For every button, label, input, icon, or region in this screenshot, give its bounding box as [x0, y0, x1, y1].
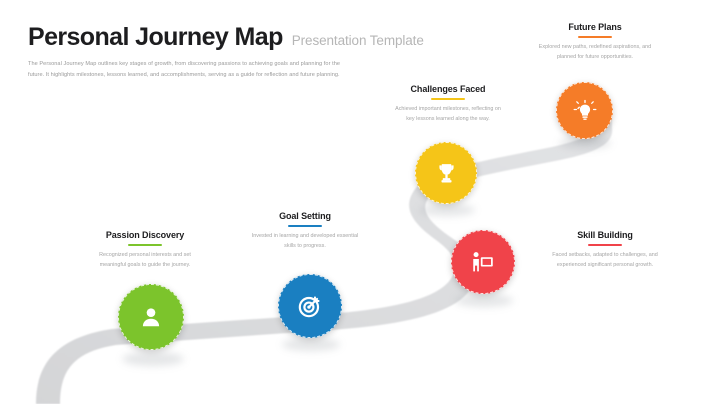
step-title: Goal Setting	[230, 211, 380, 221]
marker-goal-setting[interactable]	[278, 274, 342, 338]
step-description: Explored new paths, redefined aspiration…	[520, 42, 670, 62]
page-subtitle: Presentation Template	[292, 33, 424, 48]
intro-paragraph: The Personal Journey Map outlines key st…	[28, 59, 348, 81]
marker-challenges-faced[interactable]	[415, 142, 477, 204]
page-title: Personal Journey Map	[28, 24, 283, 50]
title-row: Personal Journey Map Presentation Templa…	[28, 24, 448, 50]
step-title: Skill Building	[530, 230, 680, 240]
step-description: Invested in learning and developed essen…	[230, 231, 380, 251]
journey-map-slide: Personal Journey Map Presentation Templa…	[0, 0, 720, 404]
slide-header: Personal Journey Map Presentation Templa…	[28, 24, 448, 81]
accent-bar	[588, 244, 622, 246]
accent-bar	[431, 98, 465, 100]
marker-passion-discovery[interactable]	[118, 284, 184, 350]
step-challenges-faced-text: Challenges Faced Achieved important mile…	[373, 84, 523, 124]
marker-shadow	[282, 338, 340, 351]
marker-shadow	[419, 204, 475, 216]
step-title: Challenges Faced	[373, 84, 523, 94]
step-description: Faced setbacks, adapted to challenges, a…	[530, 250, 680, 270]
step-future-plans-text: Future Plans Explored new paths, redefin…	[520, 22, 670, 62]
dashed-ring	[415, 142, 477, 204]
marker-future-plans[interactable]	[556, 82, 613, 139]
step-description: Achieved important milestones, reflectin…	[373, 104, 523, 124]
dashed-ring	[556, 82, 613, 139]
step-description: Recognized personal interests and set me…	[70, 250, 220, 270]
accent-bar	[128, 244, 162, 246]
accent-bar	[578, 36, 612, 38]
step-skill-building-text: Skill Building Faced setbacks, adapted t…	[530, 230, 680, 270]
step-title: Future Plans	[520, 22, 670, 32]
dashed-ring	[118, 284, 184, 350]
step-title: Passion Discovery	[70, 230, 220, 240]
step-passion-discovery-text: Passion Discovery Recognized personal in…	[70, 230, 220, 270]
marker-shadow	[122, 352, 184, 366]
dashed-ring	[278, 274, 342, 338]
accent-bar	[288, 225, 322, 227]
step-goal-setting-text: Goal Setting Invested in learning and de…	[230, 211, 380, 251]
marker-skill-building[interactable]	[451, 230, 515, 294]
dashed-ring	[451, 230, 515, 294]
marker-shadow	[455, 294, 513, 307]
